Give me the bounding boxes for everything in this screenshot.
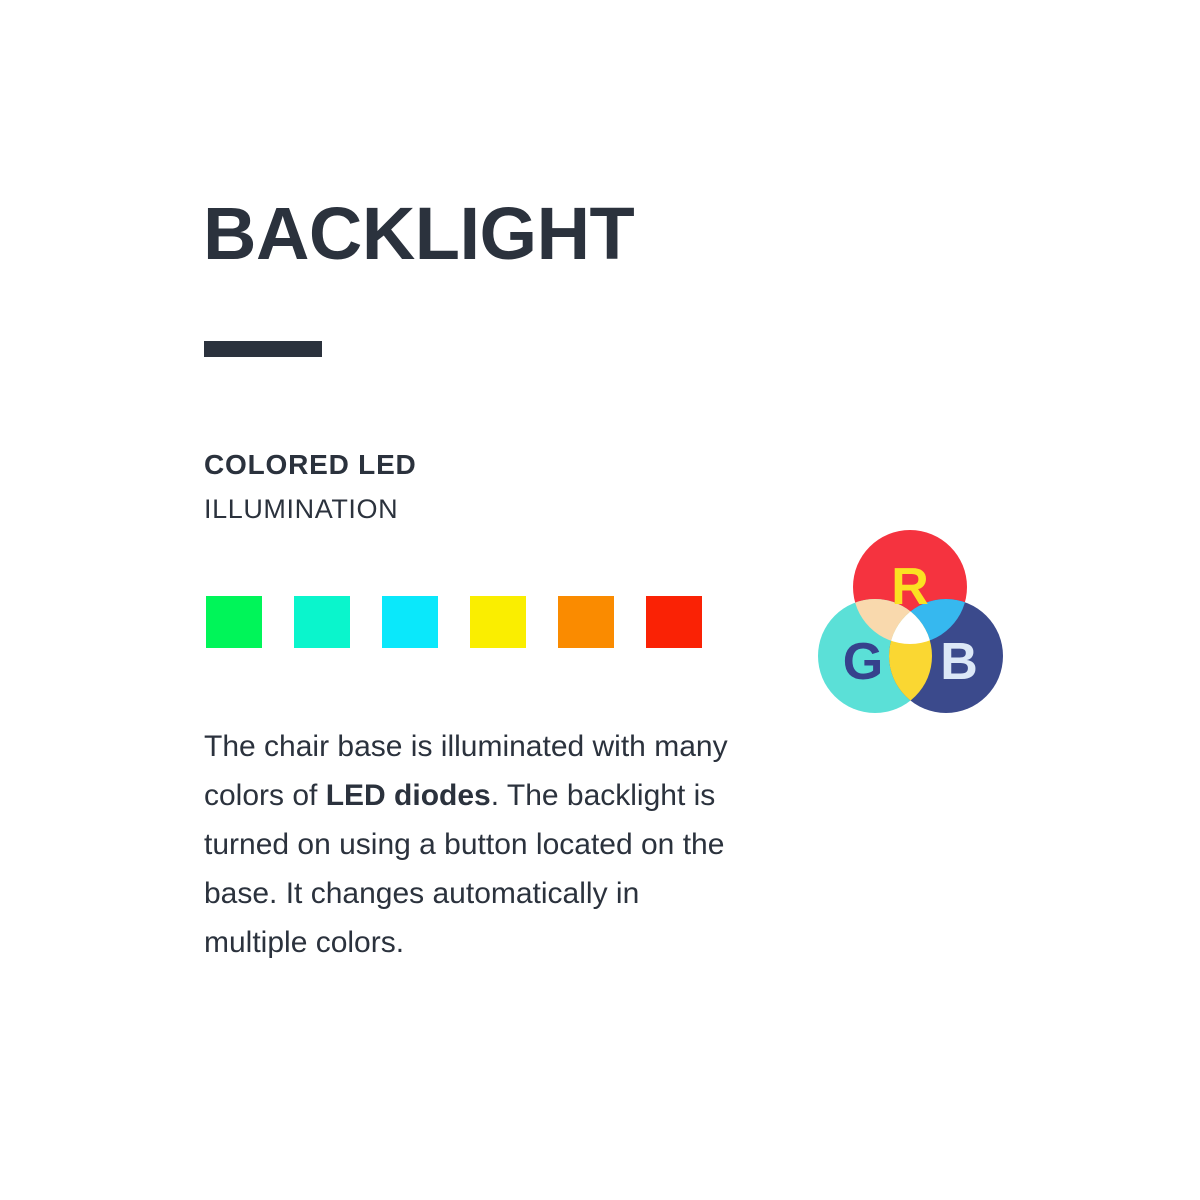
swatch-cyan <box>382 596 438 648</box>
backlight-feature-card: BACKLIGHT COLORED LED ILLUMINATION The c… <box>0 0 1200 1200</box>
swatch-turquoise <box>294 596 350 648</box>
swatch-yellow <box>470 596 526 648</box>
rgb-venn-diagram: R G B <box>815 525 1005 715</box>
body-text-emphasis: LED diodes <box>326 779 491 812</box>
page-title: BACKLIGHT <box>203 192 634 276</box>
body-paragraph: The chair base is illuminated with many … <box>204 722 734 967</box>
subheading-primary: COLORED LED <box>204 443 417 487</box>
title-underline-rule <box>204 341 322 357</box>
subheading-secondary: ILLUMINATION <box>204 487 417 531</box>
subheading-block: COLORED LED ILLUMINATION <box>204 443 417 531</box>
swatch-green <box>206 596 262 648</box>
blue-circle-letter: B <box>940 633 978 691</box>
led-color-swatch-strip <box>206 596 702 648</box>
red-circle-letter: R <box>891 558 929 616</box>
swatch-red <box>646 596 702 648</box>
swatch-orange <box>558 596 614 648</box>
green-circle-letter: G <box>843 633 883 691</box>
